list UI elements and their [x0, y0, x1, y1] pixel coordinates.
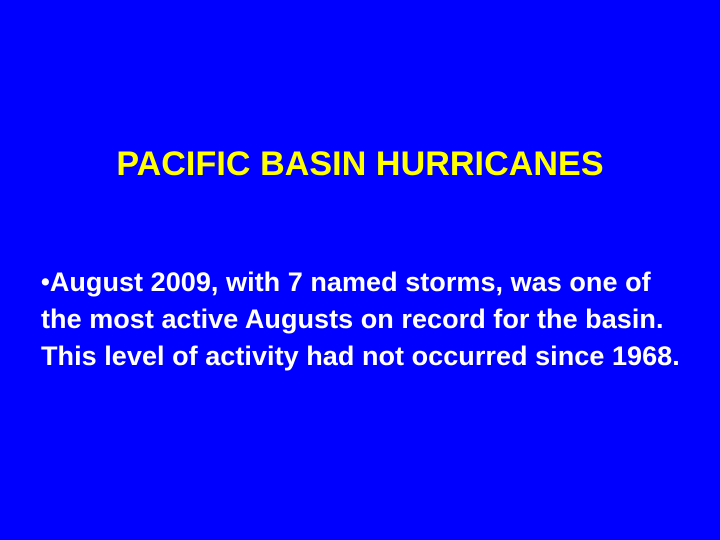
slide-body-paragraph: August 2009, with 7 named storms, was on… [41, 267, 680, 371]
slide-title: PACIFIC BASIN HURRICANES [60, 141, 660, 188]
presentation-slide: PACIFIC BASIN HURRICANES •August 2009, w… [0, 0, 720, 540]
slide-body-text-block: •August 2009, with 7 named storms, was o… [41, 264, 686, 375]
bullet-icon: • [41, 268, 50, 296]
